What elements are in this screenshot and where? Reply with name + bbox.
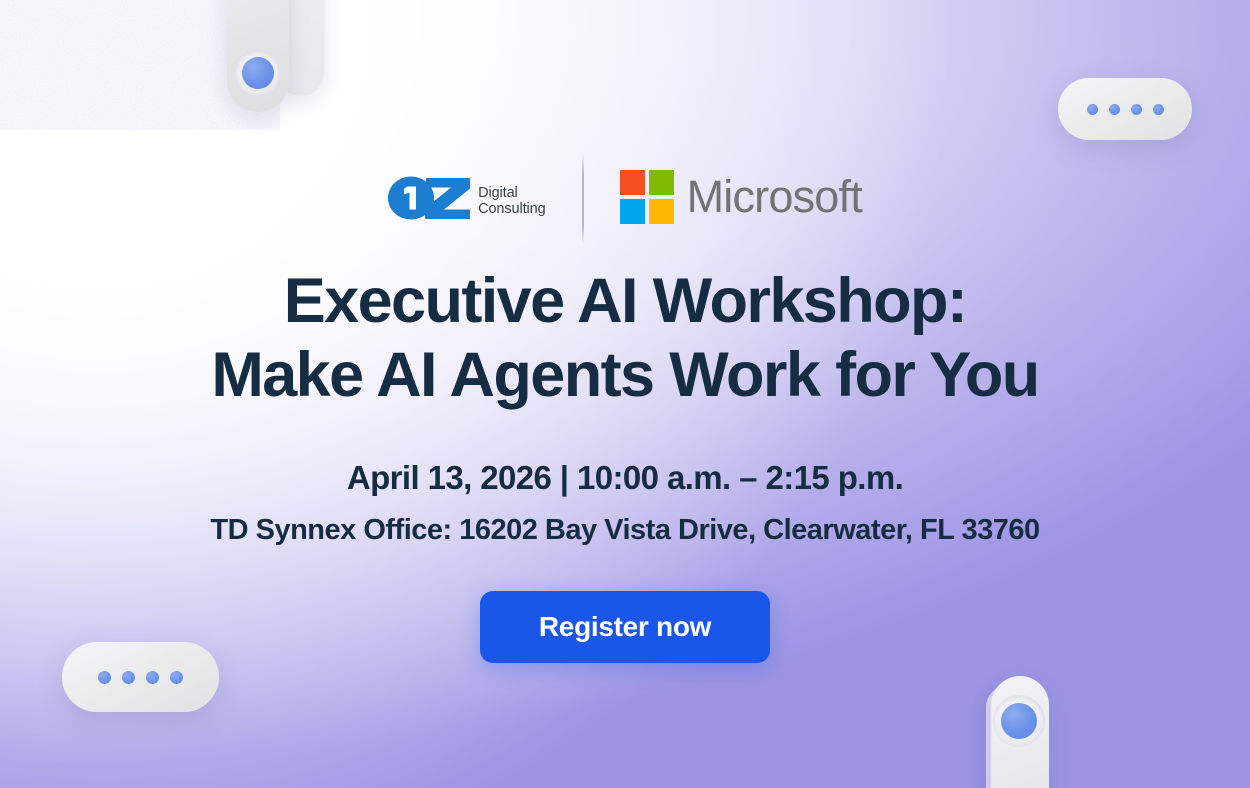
event-venue-address: TD Synnex Office: 16202 Bay Vista Drive,… — [210, 514, 1039, 547]
microsoft-square-green — [649, 170, 674, 195]
headline-line-1: Executive AI Workshop: — [284, 266, 966, 336]
page-title: Executive AI Workshop: Make AI Agents Wo… — [211, 264, 1038, 413]
banner-content: Digital Consulting Microsoft Executive A… — [0, 0, 1250, 788]
oz-logo-word-consulting: Consulting — [478, 202, 546, 218]
microsoft-square-red — [620, 170, 645, 195]
event-datetime: April 13, 2026 | 10:00 a.m. – 2:15 p.m. — [347, 459, 903, 497]
logo-lockup-row: Digital Consulting Microsoft — [388, 166, 862, 228]
register-now-button[interactable]: Register now — [480, 591, 770, 663]
event-banner: Digital Consulting Microsoft Executive A… — [0, 0, 1250, 788]
oz-logo-word-digital: Digital — [478, 186, 546, 202]
oz-logo-wordmark: Digital Consulting — [478, 186, 546, 217]
microsoft-square-blue — [620, 199, 645, 224]
oz-monogram-icon — [388, 176, 472, 220]
microsoft-logo: Microsoft — [620, 170, 862, 224]
oz-digital-consulting-logo: Digital Consulting — [388, 176, 546, 220]
headline-line-2: Make AI Agents Work for You — [211, 338, 1038, 412]
microsoft-squares-icon — [620, 170, 674, 224]
microsoft-square-yellow — [649, 199, 674, 224]
microsoft-wordmark: Microsoft — [687, 174, 862, 219]
logo-divider — [582, 155, 584, 243]
